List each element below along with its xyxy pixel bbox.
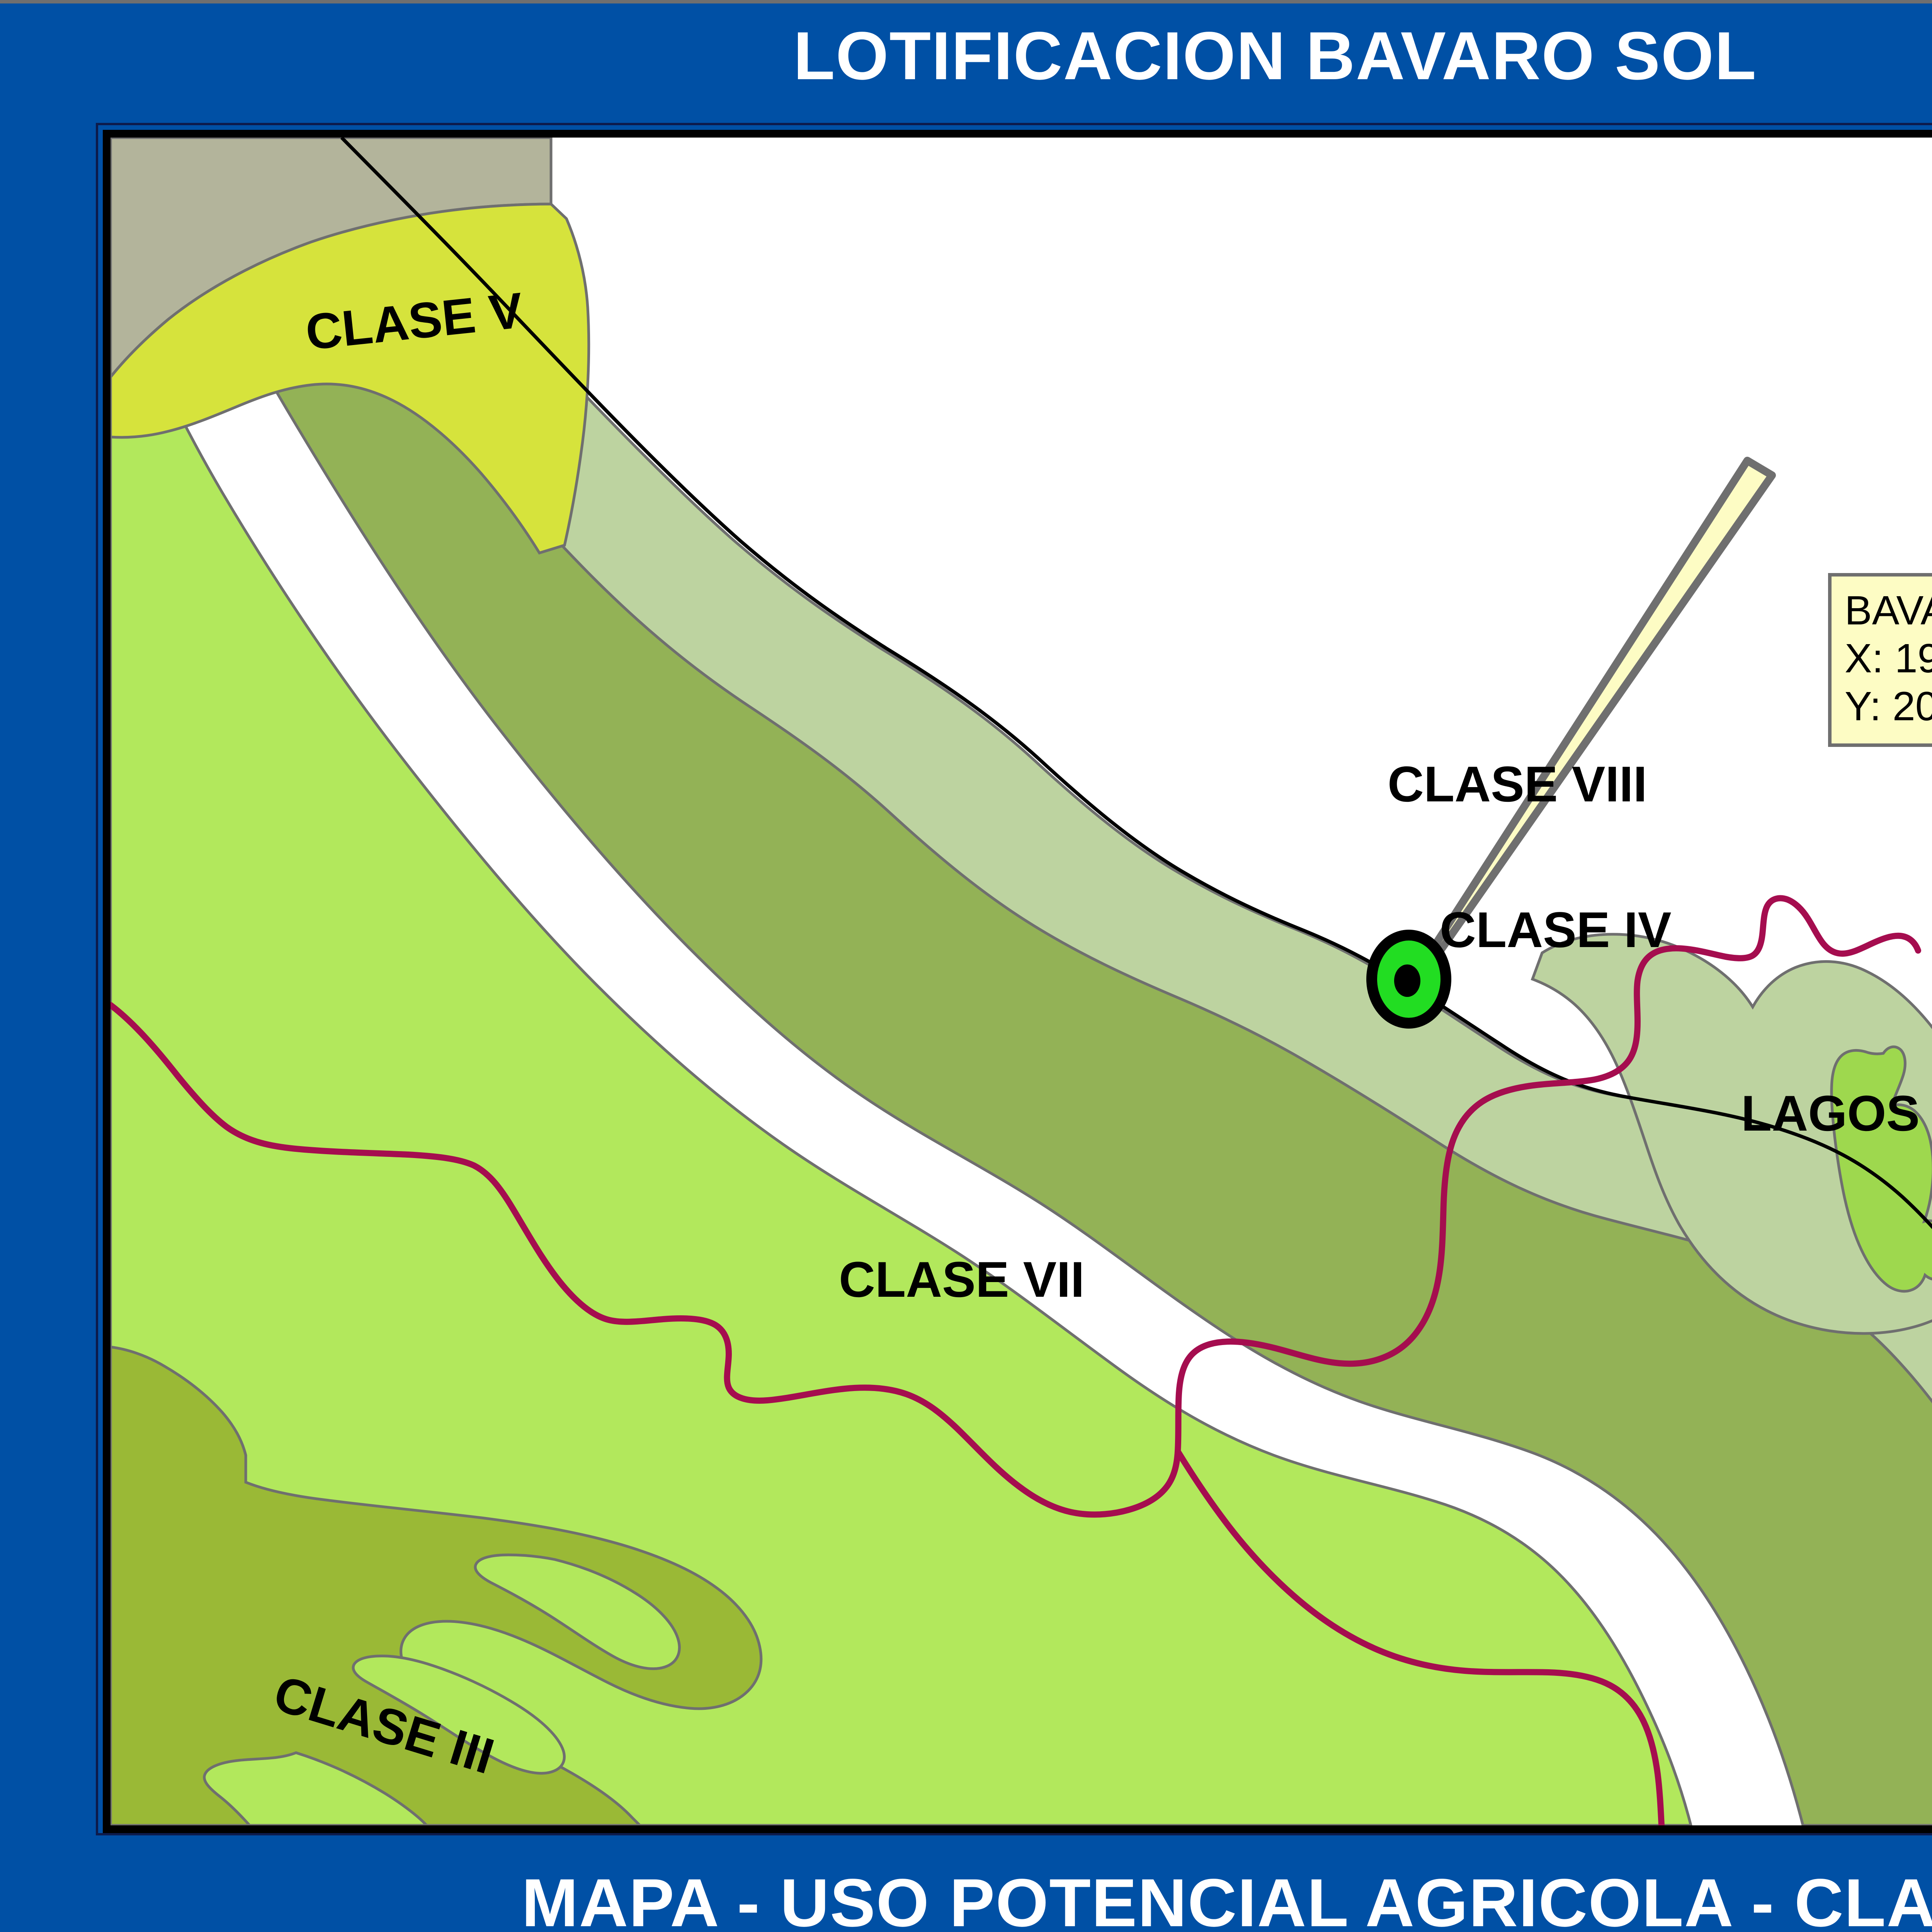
map-frame-outer: CLASE V CLASE VIII CLASE IV LAGOS Y LA C… <box>96 123 1932 1835</box>
callout-y-coordinate: Y: 2062300 mN <box>1845 682 1932 730</box>
map-label-clase-viii: CLASE VIII <box>1388 755 1647 813</box>
callout-x-coordinate: X: 19Q 558900 mE <box>1845 634 1932 682</box>
marker-center-dot <box>1394 964 1420 997</box>
map-canvas <box>111 138 1932 1825</box>
map-label-clase-vii: CLASE VII <box>839 1250 1085 1308</box>
map-label-clase-iv: CLASE IV <box>1440 901 1672 959</box>
callout-place-name: BAVARO SOL <box>1845 587 1932 634</box>
map-frame-inner: CLASE V CLASE VIII CLASE IV LAGOS Y LA C… <box>103 130 1932 1833</box>
top-gray-strip <box>0 0 1932 3</box>
page-title: LOTIFICACION BAVARO SOL <box>0 8 1932 104</box>
map-label-lagos-y-la: LAGOS Y LA <box>1741 1084 1932 1142</box>
page-footer-title: MAPA - USO POTENCIAL AGRICOLA - CLASE <box>0 1855 1932 1932</box>
coordinate-callout-box[interactable]: BAVARO SOL X: 19Q 558900 mE Y: 2062300 m… <box>1828 573 1932 747</box>
map-poster: LOTIFICACION BAVARO SOL <box>0 0 1932 1932</box>
bavaro-sol-marker[interactable] <box>1372 935 1446 1023</box>
